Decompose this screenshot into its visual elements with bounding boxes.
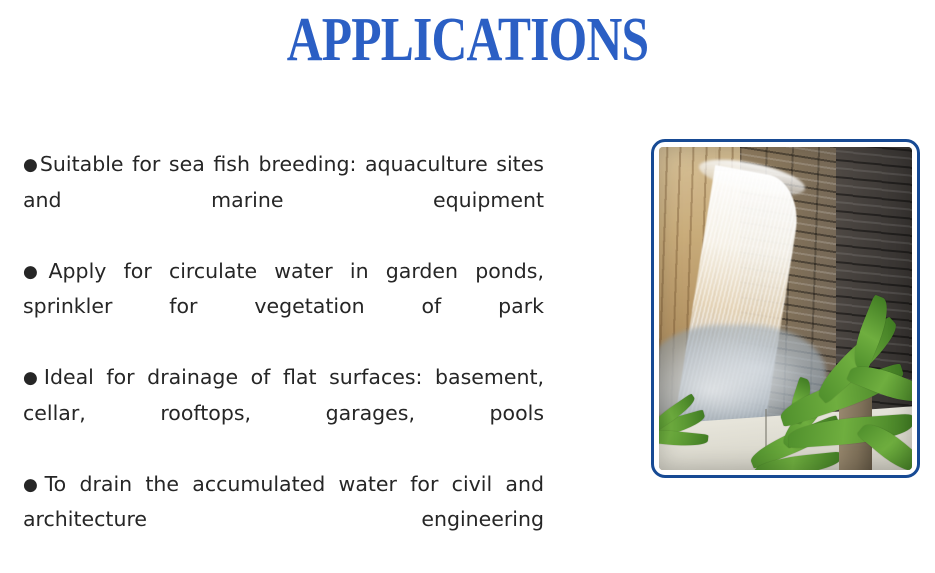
page-title: APPLICATIONS [94, 8, 842, 72]
bullet-icon: ● [23, 475, 45, 495]
waterfall-photo [659, 147, 912, 470]
list-item: ●Suitable for sea fish breeding: aquacul… [23, 147, 544, 254]
list-item-text: Ideal for drainage of flat surfaces: bas… [23, 365, 544, 425]
list-item: ●Apply for circulate water in garden pon… [23, 254, 544, 361]
bullet-icon: ● [23, 368, 44, 388]
list-item: ●Ideal for drainage of flat surfaces: ba… [23, 360, 544, 467]
yucca-plant-right [786, 276, 913, 470]
application-slide: APPLICATIONS ●Suitable for sea fish bree… [0, 0, 935, 539]
list-item-text: Apply for circulate water in garden pond… [23, 259, 544, 319]
bullet-icon: ● [23, 262, 49, 282]
list-item-text: Suitable for sea fish breeding: aquacult… [23, 152, 544, 212]
product-photo-frame [651, 139, 920, 478]
applications-list: ●Suitable for sea fish breeding: aquacul… [23, 147, 544, 573]
list-item: ●To drain the accumulated water for civi… [23, 467, 544, 573]
bullet-icon: ● [23, 155, 40, 175]
list-item-text: To drain the accumulated water for civil… [23, 472, 544, 532]
yucca-plant-left [659, 347, 725, 444]
